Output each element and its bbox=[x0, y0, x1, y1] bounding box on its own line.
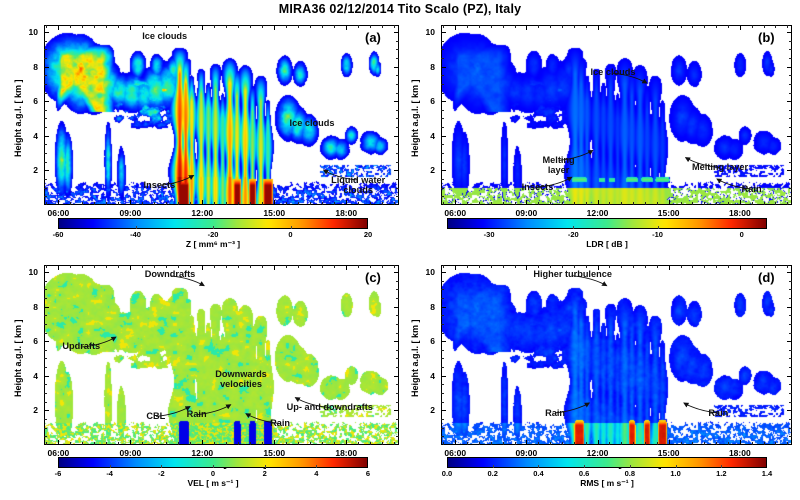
x-minor-tick bbox=[704, 442, 705, 445]
x-minor-tick bbox=[467, 202, 468, 205]
x-minor-tick bbox=[154, 265, 155, 268]
y-minor-tick bbox=[396, 367, 399, 368]
x-minor-tick bbox=[752, 202, 753, 205]
x-tick-mark bbox=[740, 25, 741, 30]
x-minor-tick bbox=[286, 265, 287, 268]
x-minor-tick bbox=[621, 265, 622, 268]
y-tick-label: 2 bbox=[417, 165, 435, 175]
y-tick-mark bbox=[787, 32, 792, 33]
x-minor-tick bbox=[190, 202, 191, 205]
x-minor-tick bbox=[310, 202, 311, 205]
x-minor-tick bbox=[716, 25, 717, 28]
y-minor-tick bbox=[441, 118, 444, 119]
x-minor-tick bbox=[106, 25, 107, 28]
x-tick-mark bbox=[598, 440, 599, 445]
x-tick-mark bbox=[669, 265, 670, 270]
y-minor-tick bbox=[44, 350, 47, 351]
y-minor-tick bbox=[789, 436, 792, 437]
x-minor-tick bbox=[70, 265, 71, 268]
colorbar-tick-label: 0.4 bbox=[518, 469, 558, 478]
x-minor-tick bbox=[443, 202, 444, 205]
y-minor-tick bbox=[44, 162, 47, 163]
x-minor-tick bbox=[382, 442, 383, 445]
x-minor-tick bbox=[704, 25, 705, 28]
y-minor-tick bbox=[441, 144, 444, 145]
y-tick-label: 10 bbox=[20, 27, 38, 37]
y-minor-tick bbox=[789, 281, 792, 282]
annotation-label: Rain bbox=[545, 408, 565, 419]
panel-letter-c: (c) bbox=[365, 270, 381, 285]
y-tick-mark bbox=[787, 272, 792, 273]
x-minor-tick bbox=[370, 265, 371, 268]
x-tick-mark bbox=[598, 25, 599, 30]
x-minor-tick bbox=[190, 25, 191, 28]
y-minor-tick bbox=[789, 384, 792, 385]
x-tick-mark bbox=[346, 200, 347, 205]
x-minor-tick bbox=[46, 265, 47, 268]
x-minor-tick bbox=[214, 25, 215, 28]
y-minor-tick bbox=[396, 315, 399, 316]
x-minor-tick bbox=[574, 442, 575, 445]
x-minor-tick bbox=[479, 442, 480, 445]
x-minor-tick bbox=[262, 202, 263, 205]
y-minor-tick bbox=[396, 333, 399, 334]
x-minor-tick bbox=[166, 25, 167, 28]
colorbar-tick-mark bbox=[676, 465, 677, 468]
y-minor-tick bbox=[441, 281, 444, 282]
x-minor-tick bbox=[633, 442, 634, 445]
y-minor-tick bbox=[441, 324, 444, 325]
x-minor-tick bbox=[443, 25, 444, 28]
x-minor-tick bbox=[633, 25, 634, 28]
y-tick-mark bbox=[787, 170, 792, 171]
y-minor-tick bbox=[44, 179, 47, 180]
annotation-line-1: Melting bbox=[543, 155, 575, 166]
y-minor-tick bbox=[789, 162, 792, 163]
y-minor-tick bbox=[789, 49, 792, 50]
x-minor-tick bbox=[46, 25, 47, 28]
colorbar-tick-label: -2 bbox=[141, 469, 181, 478]
plot-area-c[interactable] bbox=[44, 265, 399, 445]
colorbar-label-a: Z [ mm⁶ m⁻³ ] bbox=[186, 239, 240, 250]
colorbar-tick-label: 20 bbox=[348, 230, 388, 239]
y-tick-mark bbox=[441, 32, 446, 33]
x-minor-tick bbox=[226, 25, 227, 28]
y-minor-tick bbox=[44, 324, 47, 325]
x-minor-tick bbox=[142, 265, 143, 268]
colorbar-tick-mark bbox=[584, 465, 585, 468]
x-minor-tick bbox=[692, 265, 693, 268]
x-minor-tick bbox=[645, 265, 646, 268]
y-minor-tick bbox=[441, 358, 444, 359]
x-tick-mark bbox=[526, 440, 527, 445]
x-minor-tick bbox=[764, 265, 765, 268]
x-minor-tick bbox=[142, 25, 143, 28]
y-minor-tick bbox=[441, 298, 444, 299]
y-tick-mark bbox=[44, 410, 49, 411]
x-minor-tick bbox=[609, 265, 610, 268]
panel-letter-a: (a) bbox=[365, 30, 381, 45]
colorbar-tick-mark bbox=[493, 465, 494, 468]
y-tick-mark bbox=[394, 32, 399, 33]
y-minor-tick bbox=[396, 384, 399, 385]
y-tick-mark bbox=[787, 101, 792, 102]
y-tick-mark bbox=[441, 341, 446, 342]
x-minor-tick bbox=[262, 265, 263, 268]
x-minor-tick bbox=[716, 265, 717, 268]
y-minor-tick bbox=[396, 84, 399, 85]
y-minor-tick bbox=[441, 162, 444, 163]
y-minor-tick bbox=[789, 419, 792, 420]
y-minor-tick bbox=[396, 393, 399, 394]
y-tick-label: 8 bbox=[20, 302, 38, 312]
y-minor-tick bbox=[441, 153, 444, 154]
y-minor-tick bbox=[789, 289, 792, 290]
x-minor-tick bbox=[250, 265, 251, 268]
y-minor-tick bbox=[789, 144, 792, 145]
y-tick-mark bbox=[441, 136, 446, 137]
x-tick-mark bbox=[58, 25, 59, 30]
x-minor-tick bbox=[370, 25, 371, 28]
x-minor-tick bbox=[178, 442, 179, 445]
x-minor-tick bbox=[190, 265, 191, 268]
x-minor-tick bbox=[178, 25, 179, 28]
x-minor-tick bbox=[394, 202, 395, 205]
y-axis-label: Height a.g.l. [ km ] bbox=[410, 319, 420, 397]
x-minor-tick bbox=[503, 25, 504, 28]
x-minor-tick bbox=[538, 25, 539, 28]
y-minor-tick bbox=[789, 315, 792, 316]
y-tick-label: 8 bbox=[20, 62, 38, 72]
y-tick-mark bbox=[441, 170, 446, 171]
y-minor-tick bbox=[44, 281, 47, 282]
x-minor-tick bbox=[70, 25, 71, 28]
x-minor-tick bbox=[657, 265, 658, 268]
y-minor-tick bbox=[441, 384, 444, 385]
x-minor-tick bbox=[503, 265, 504, 268]
x-tick-mark bbox=[455, 440, 456, 445]
x-minor-tick bbox=[704, 202, 705, 205]
x-tick-mark bbox=[740, 200, 741, 205]
x-minor-tick bbox=[250, 202, 251, 205]
y-minor-tick bbox=[789, 188, 792, 189]
y-minor-tick bbox=[44, 436, 47, 437]
y-minor-tick bbox=[44, 49, 47, 50]
y-minor-tick bbox=[396, 127, 399, 128]
annotation-line-1: Liquid water bbox=[331, 175, 385, 186]
y-minor-tick bbox=[441, 428, 444, 429]
x-minor-tick bbox=[787, 442, 788, 445]
y-minor-tick bbox=[396, 402, 399, 403]
x-minor-tick bbox=[394, 25, 395, 28]
colorbar-tick-label: 0 bbox=[722, 230, 762, 239]
x-minor-tick bbox=[322, 25, 323, 28]
x-minor-tick bbox=[586, 202, 587, 205]
x-minor-tick bbox=[787, 265, 788, 268]
x-minor-tick bbox=[586, 442, 587, 445]
x-minor-tick bbox=[82, 202, 83, 205]
y-minor-tick bbox=[396, 436, 399, 437]
x-minor-tick bbox=[692, 202, 693, 205]
x-minor-tick bbox=[298, 202, 299, 205]
colorbar-tick-mark bbox=[110, 465, 111, 468]
x-tick-label: 09:00 bbox=[506, 208, 546, 218]
colorbar-tick-label: 0.0 bbox=[427, 469, 467, 478]
x-tick-mark bbox=[274, 440, 275, 445]
x-minor-tick bbox=[503, 442, 504, 445]
x-minor-tick bbox=[214, 442, 215, 445]
y-minor-tick bbox=[441, 315, 444, 316]
annotation-label: Rain bbox=[187, 409, 207, 420]
y-tick-mark bbox=[787, 307, 792, 308]
y-minor-tick bbox=[441, 393, 444, 394]
y-minor-tick bbox=[44, 384, 47, 385]
colorbar-tick-label: 4 bbox=[296, 469, 336, 478]
y-tick-label: 2 bbox=[20, 165, 38, 175]
x-tick-mark bbox=[130, 25, 131, 30]
x-minor-tick bbox=[645, 202, 646, 205]
y-tick-mark bbox=[44, 136, 49, 137]
x-minor-tick bbox=[657, 442, 658, 445]
colorbar-tick-mark bbox=[213, 465, 214, 468]
colorbar-tick-mark bbox=[573, 226, 574, 229]
x-tick-mark bbox=[598, 200, 599, 205]
annotation-label: Downdrafts bbox=[145, 269, 196, 280]
x-minor-tick bbox=[262, 25, 263, 28]
x-minor-tick bbox=[562, 202, 563, 205]
x-minor-tick bbox=[154, 202, 155, 205]
x-minor-tick bbox=[787, 25, 788, 28]
colorbar-tick-mark bbox=[291, 226, 292, 229]
y-axis-label: Height a.g.l. [ km ] bbox=[13, 79, 23, 157]
x-tick-label: 06:00 bbox=[435, 208, 475, 218]
y-tick-mark bbox=[44, 272, 49, 273]
x-minor-tick bbox=[704, 265, 705, 268]
x-minor-tick bbox=[467, 265, 468, 268]
x-minor-tick bbox=[609, 202, 610, 205]
x-tick-mark bbox=[346, 265, 347, 270]
y-minor-tick bbox=[44, 118, 47, 119]
x-minor-tick bbox=[491, 25, 492, 28]
y-minor-tick bbox=[789, 324, 792, 325]
x-minor-tick bbox=[728, 202, 729, 205]
colorbar-tick-label: 0 bbox=[193, 469, 233, 478]
colorbar-tick-label: 1.0 bbox=[656, 469, 696, 478]
x-minor-tick bbox=[479, 202, 480, 205]
x-minor-tick bbox=[752, 442, 753, 445]
y-minor-tick bbox=[396, 110, 399, 111]
y-minor-tick bbox=[441, 367, 444, 368]
y-minor-tick bbox=[789, 58, 792, 59]
x-minor-tick bbox=[550, 442, 551, 445]
y-minor-tick bbox=[44, 84, 47, 85]
x-tick-mark bbox=[202, 265, 203, 270]
x-tick-label: 18:00 bbox=[326, 208, 366, 218]
x-minor-tick bbox=[479, 265, 480, 268]
y-minor-tick bbox=[789, 367, 792, 368]
x-minor-tick bbox=[609, 25, 610, 28]
y-minor-tick bbox=[44, 428, 47, 429]
x-tick-mark bbox=[740, 265, 741, 270]
y-tick-mark bbox=[441, 101, 446, 102]
heatmap-canvas-b bbox=[442, 26, 791, 204]
x-tick-mark bbox=[202, 440, 203, 445]
x-minor-tick bbox=[334, 25, 335, 28]
y-minor-tick bbox=[789, 333, 792, 334]
y-minor-tick bbox=[44, 127, 47, 128]
y-minor-tick bbox=[441, 419, 444, 420]
colorbar-tick-label: -40 bbox=[116, 230, 156, 239]
y-minor-tick bbox=[44, 153, 47, 154]
x-minor-tick bbox=[394, 265, 395, 268]
x-minor-tick bbox=[716, 202, 717, 205]
x-minor-tick bbox=[370, 442, 371, 445]
y-tick-mark bbox=[394, 376, 399, 377]
y-minor-tick bbox=[44, 41, 47, 42]
y-minor-tick bbox=[789, 118, 792, 119]
y-tick-mark bbox=[394, 272, 399, 273]
x-minor-tick bbox=[334, 202, 335, 205]
y-minor-tick bbox=[44, 144, 47, 145]
y-minor-tick bbox=[396, 196, 399, 197]
x-tick-mark bbox=[526, 200, 527, 205]
x-minor-tick bbox=[562, 442, 563, 445]
y-tick-mark bbox=[44, 101, 49, 102]
x-minor-tick bbox=[310, 265, 311, 268]
y-tick-label: 2 bbox=[20, 405, 38, 415]
x-tick-mark bbox=[274, 25, 275, 30]
colorbar-tick-label: 1.2 bbox=[701, 469, 741, 478]
y-minor-tick bbox=[441, 289, 444, 290]
x-tick-mark bbox=[274, 265, 275, 270]
y-minor-tick bbox=[44, 333, 47, 334]
x-minor-tick bbox=[70, 202, 71, 205]
y-tick-mark bbox=[394, 170, 399, 171]
x-minor-tick bbox=[298, 25, 299, 28]
x-minor-tick bbox=[586, 25, 587, 28]
x-minor-tick bbox=[190, 442, 191, 445]
x-minor-tick bbox=[764, 442, 765, 445]
y-tick-mark bbox=[44, 67, 49, 68]
y-minor-tick bbox=[44, 289, 47, 290]
y-tick-mark bbox=[441, 410, 446, 411]
y-minor-tick bbox=[441, 49, 444, 50]
y-tick-mark bbox=[787, 67, 792, 68]
colorbar-tick-label: -30 bbox=[469, 230, 509, 239]
y-minor-tick bbox=[396, 350, 399, 351]
x-minor-tick bbox=[775, 265, 776, 268]
x-tick-mark bbox=[669, 440, 670, 445]
y-minor-tick bbox=[441, 75, 444, 76]
x-minor-tick bbox=[562, 265, 563, 268]
y-minor-tick bbox=[789, 75, 792, 76]
annotation-label: Meltinglayer bbox=[543, 155, 575, 176]
x-minor-tick bbox=[94, 265, 95, 268]
x-minor-tick bbox=[621, 202, 622, 205]
colorbar-tick-mark bbox=[161, 465, 162, 468]
colorbar-tick-label: -4 bbox=[90, 469, 130, 478]
x-minor-tick bbox=[716, 442, 717, 445]
x-minor-tick bbox=[322, 442, 323, 445]
annotation-label: Ice clouds bbox=[142, 31, 187, 42]
y-minor-tick bbox=[396, 179, 399, 180]
annotation-label: Rain bbox=[742, 184, 762, 195]
y-tick-mark bbox=[44, 376, 49, 377]
x-minor-tick bbox=[681, 442, 682, 445]
plot-area-d[interactable] bbox=[441, 265, 792, 445]
y-minor-tick bbox=[441, 127, 444, 128]
colorbar-tick-label: 0.2 bbox=[473, 469, 513, 478]
heatmap-canvas-d bbox=[442, 266, 791, 444]
x-minor-tick bbox=[226, 265, 227, 268]
y-minor-tick bbox=[44, 393, 47, 394]
x-minor-tick bbox=[538, 442, 539, 445]
colorbar-tick-mark bbox=[316, 465, 317, 468]
annotation-label: Insects bbox=[522, 182, 554, 193]
x-minor-tick bbox=[154, 442, 155, 445]
x-minor-tick bbox=[358, 202, 359, 205]
x-minor-tick bbox=[621, 25, 622, 28]
x-minor-tick bbox=[286, 25, 287, 28]
x-minor-tick bbox=[238, 442, 239, 445]
x-tick-mark bbox=[202, 25, 203, 30]
x-minor-tick bbox=[370, 202, 371, 205]
y-minor-tick bbox=[441, 333, 444, 334]
x-tick-mark bbox=[669, 25, 670, 30]
x-tick-mark bbox=[58, 200, 59, 205]
y-tick-mark bbox=[394, 410, 399, 411]
x-minor-tick bbox=[238, 265, 239, 268]
y-minor-tick bbox=[789, 196, 792, 197]
colorbar-tick-label: -20 bbox=[553, 230, 593, 239]
x-tick-mark bbox=[455, 200, 456, 205]
plot-area-b[interactable] bbox=[441, 25, 792, 205]
y-minor-tick bbox=[441, 110, 444, 111]
x-tick-label: 15:00 bbox=[254, 208, 294, 218]
x-minor-tick bbox=[286, 442, 287, 445]
x-minor-tick bbox=[310, 442, 311, 445]
x-minor-tick bbox=[550, 25, 551, 28]
x-tick-mark bbox=[130, 440, 131, 445]
x-minor-tick bbox=[574, 265, 575, 268]
x-minor-tick bbox=[443, 265, 444, 268]
y-tick-mark bbox=[44, 341, 49, 342]
annotation-line-2: velocities bbox=[215, 379, 267, 390]
x-minor-tick bbox=[250, 442, 251, 445]
x-minor-tick bbox=[775, 442, 776, 445]
y-minor-tick bbox=[441, 436, 444, 437]
x-minor-tick bbox=[586, 265, 587, 268]
x-minor-tick bbox=[238, 202, 239, 205]
x-minor-tick bbox=[334, 442, 335, 445]
x-minor-tick bbox=[764, 25, 765, 28]
x-minor-tick bbox=[286, 202, 287, 205]
y-tick-label: 10 bbox=[417, 267, 435, 277]
y-minor-tick bbox=[789, 127, 792, 128]
x-minor-tick bbox=[166, 202, 167, 205]
x-minor-tick bbox=[764, 202, 765, 205]
x-minor-tick bbox=[538, 202, 539, 205]
x-minor-tick bbox=[298, 265, 299, 268]
x-minor-tick bbox=[250, 25, 251, 28]
colorbar-tick-label: -6 bbox=[38, 469, 78, 478]
colorbar-tick-label: -10 bbox=[638, 230, 678, 239]
y-tick-mark bbox=[441, 376, 446, 377]
x-minor-tick bbox=[82, 265, 83, 268]
y-tick-mark bbox=[787, 410, 792, 411]
x-minor-tick bbox=[538, 265, 539, 268]
x-minor-tick bbox=[214, 202, 215, 205]
